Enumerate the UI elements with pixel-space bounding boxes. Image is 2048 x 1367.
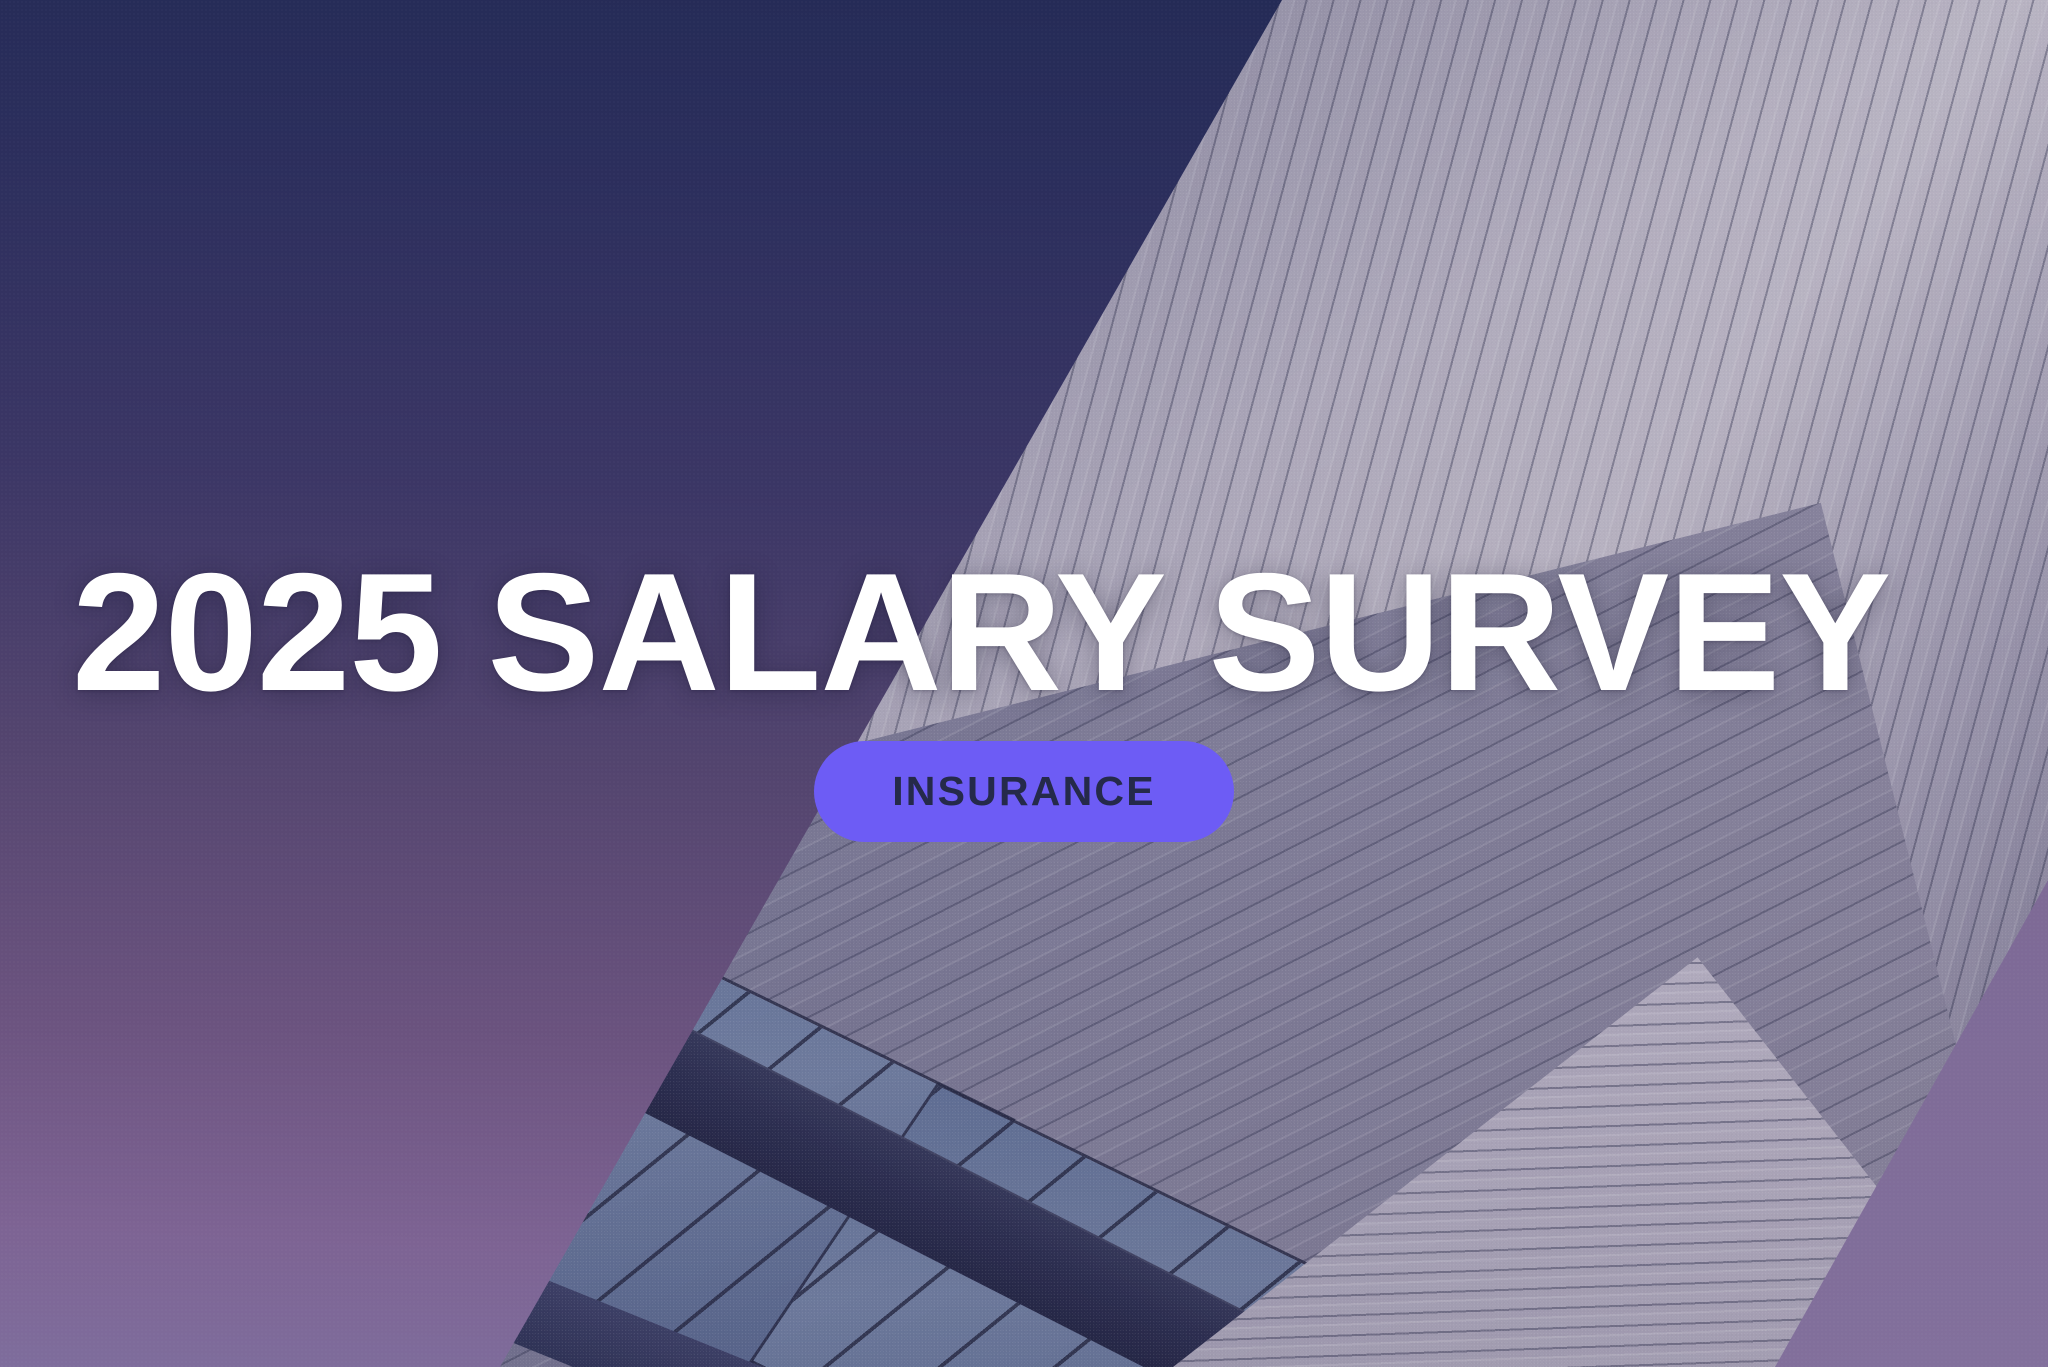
- badge-row: INSURANCE: [0, 741, 2048, 842]
- salary-survey-hero-banner: 2025 SALARY SURVEY INSURANCE: [0, 0, 2048, 1367]
- hero-content: 2025 SALARY SURVEY INSURANCE: [0, 0, 2048, 1367]
- category-badge[interactable]: INSURANCE: [814, 741, 1234, 842]
- page-title: 2025 SALARY SURVEY: [72, 548, 1976, 716]
